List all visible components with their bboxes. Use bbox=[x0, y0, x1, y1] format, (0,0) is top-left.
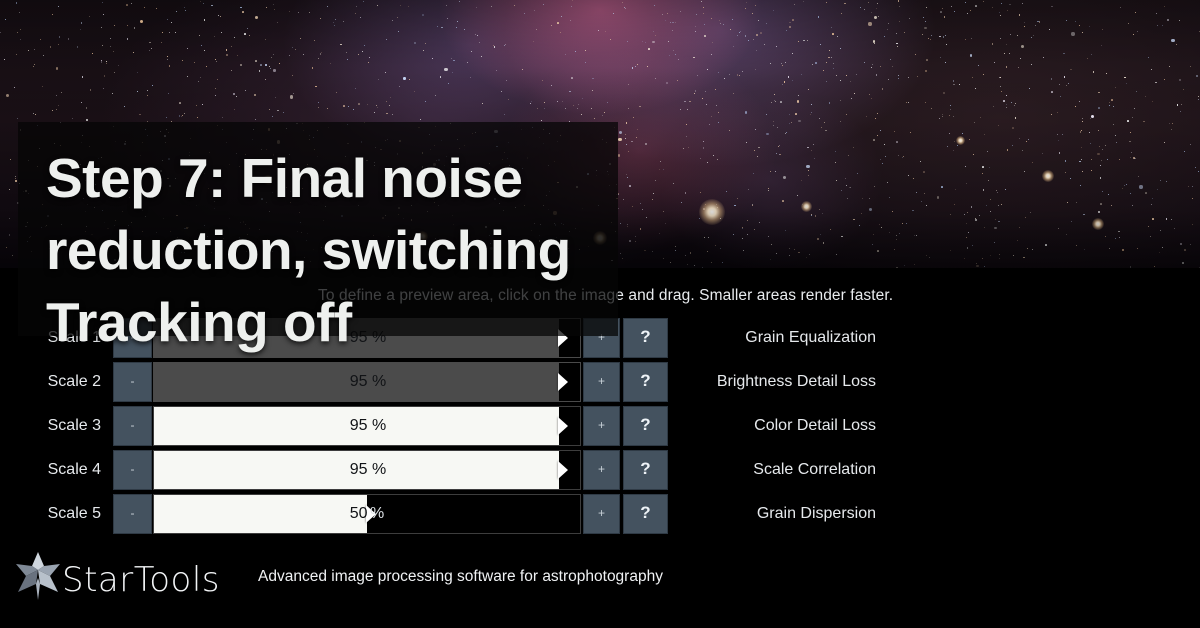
slider-value-over-track: 95 % bbox=[559, 451, 580, 489]
slider-row: Scale 3-95 %95 %+? bbox=[0, 404, 672, 448]
title-line-3: Tracking off bbox=[46, 286, 626, 358]
decrement-button[interactable]: - bbox=[113, 362, 152, 402]
brand-name: StarTools bbox=[62, 560, 220, 600]
help-button[interactable]: ? bbox=[623, 494, 668, 534]
slider-track[interactable]: 50 %50 % bbox=[153, 494, 581, 534]
slider-row: Color Detail Loss-50 %50 % bbox=[680, 404, 1200, 448]
increment-button[interactable]: + bbox=[583, 450, 620, 490]
help-button[interactable]: ? bbox=[623, 362, 668, 402]
slider-row: Grain Dispersion-4.2 pixels4.2 pixels bbox=[680, 492, 1200, 536]
decrement-button[interactable]: - bbox=[113, 494, 152, 534]
plus-icon: + bbox=[598, 462, 605, 476]
question-mark-icon: ? bbox=[640, 371, 650, 391]
question-mark-icon: ? bbox=[640, 327, 650, 347]
question-mark-icon: ? bbox=[640, 459, 650, 479]
slider-track[interactable]: 95 %95 % bbox=[153, 362, 581, 402]
slider-value-over-fill: 95 % bbox=[154, 363, 561, 401]
slider-value-over-fill: 95 % bbox=[154, 407, 561, 445]
page-title: Step 7: Final noise reduction, switching… bbox=[46, 142, 626, 358]
slider-value-over-track: 95 % bbox=[559, 363, 580, 401]
decrement-button[interactable]: - bbox=[113, 450, 152, 490]
slider-value-over-fill: 50 % bbox=[154, 495, 368, 533]
slider-label: Brightness Detail Loss bbox=[680, 360, 876, 404]
question-mark-icon: ? bbox=[640, 415, 650, 435]
slider-track[interactable]: 95 %95 % bbox=[153, 406, 581, 446]
slider-row: Scale Correlation-50 %50 % bbox=[680, 448, 1200, 492]
title-line-2: reduction, switching bbox=[46, 214, 626, 286]
screenshot-root: Step 7: Final noise reduction, switching… bbox=[0, 0, 1200, 628]
slider-value-over-track: 50 % bbox=[366, 495, 580, 533]
slider-value-over-track: 95 % bbox=[559, 407, 580, 445]
minus-icon: - bbox=[131, 506, 135, 520]
slider-row: Brightness Detail Loss-50 %50 % bbox=[680, 360, 1200, 404]
increment-button[interactable]: + bbox=[583, 362, 620, 402]
help-button[interactable]: ? bbox=[623, 450, 668, 490]
plus-icon: + bbox=[598, 418, 605, 432]
plus-icon: + bbox=[598, 374, 605, 388]
slider-label: Grain Dispersion bbox=[680, 492, 876, 536]
slider-label: Scale 4 bbox=[0, 448, 101, 492]
slider-label: Scale 3 bbox=[0, 404, 101, 448]
increment-button[interactable]: + bbox=[583, 406, 620, 446]
help-button[interactable]: ? bbox=[623, 318, 668, 358]
minus-icon: - bbox=[131, 462, 135, 476]
slider-label: Grain Equalization bbox=[680, 316, 876, 360]
increment-button[interactable]: + bbox=[583, 494, 620, 534]
faceted-star-icon bbox=[10, 548, 66, 604]
title-line-1: Step 7: Final noise bbox=[46, 142, 626, 214]
grain-settings-panel: Grain Equalization-15 %15 %Brightness De… bbox=[680, 316, 1200, 536]
slider-label: Color Detail Loss bbox=[680, 404, 876, 448]
plus-icon: + bbox=[598, 506, 605, 520]
minus-icon: - bbox=[131, 418, 135, 432]
slider-label: Scale 5 bbox=[0, 492, 101, 536]
decrement-button[interactable]: - bbox=[113, 406, 152, 446]
slider-label: Scale Correlation bbox=[680, 448, 876, 492]
help-button[interactable]: ? bbox=[623, 406, 668, 446]
slider-row: Scale 4-95 %95 %+? bbox=[0, 448, 672, 492]
slider-label: Scale 2 bbox=[0, 360, 101, 404]
slider-row: Scale 5-50 %50 %+? bbox=[0, 492, 672, 536]
slider-track[interactable]: 95 %95 % bbox=[153, 450, 581, 490]
brand-tagline: Advanced image processing software for a… bbox=[258, 568, 663, 586]
slider-row: Scale 2-95 %95 %+? bbox=[0, 360, 672, 404]
slider-value-over-fill: 95 % bbox=[154, 451, 561, 489]
minus-icon: - bbox=[131, 374, 135, 388]
slider-row: Grain Equalization-15 %15 % bbox=[680, 316, 1200, 360]
question-mark-icon: ? bbox=[640, 503, 650, 523]
